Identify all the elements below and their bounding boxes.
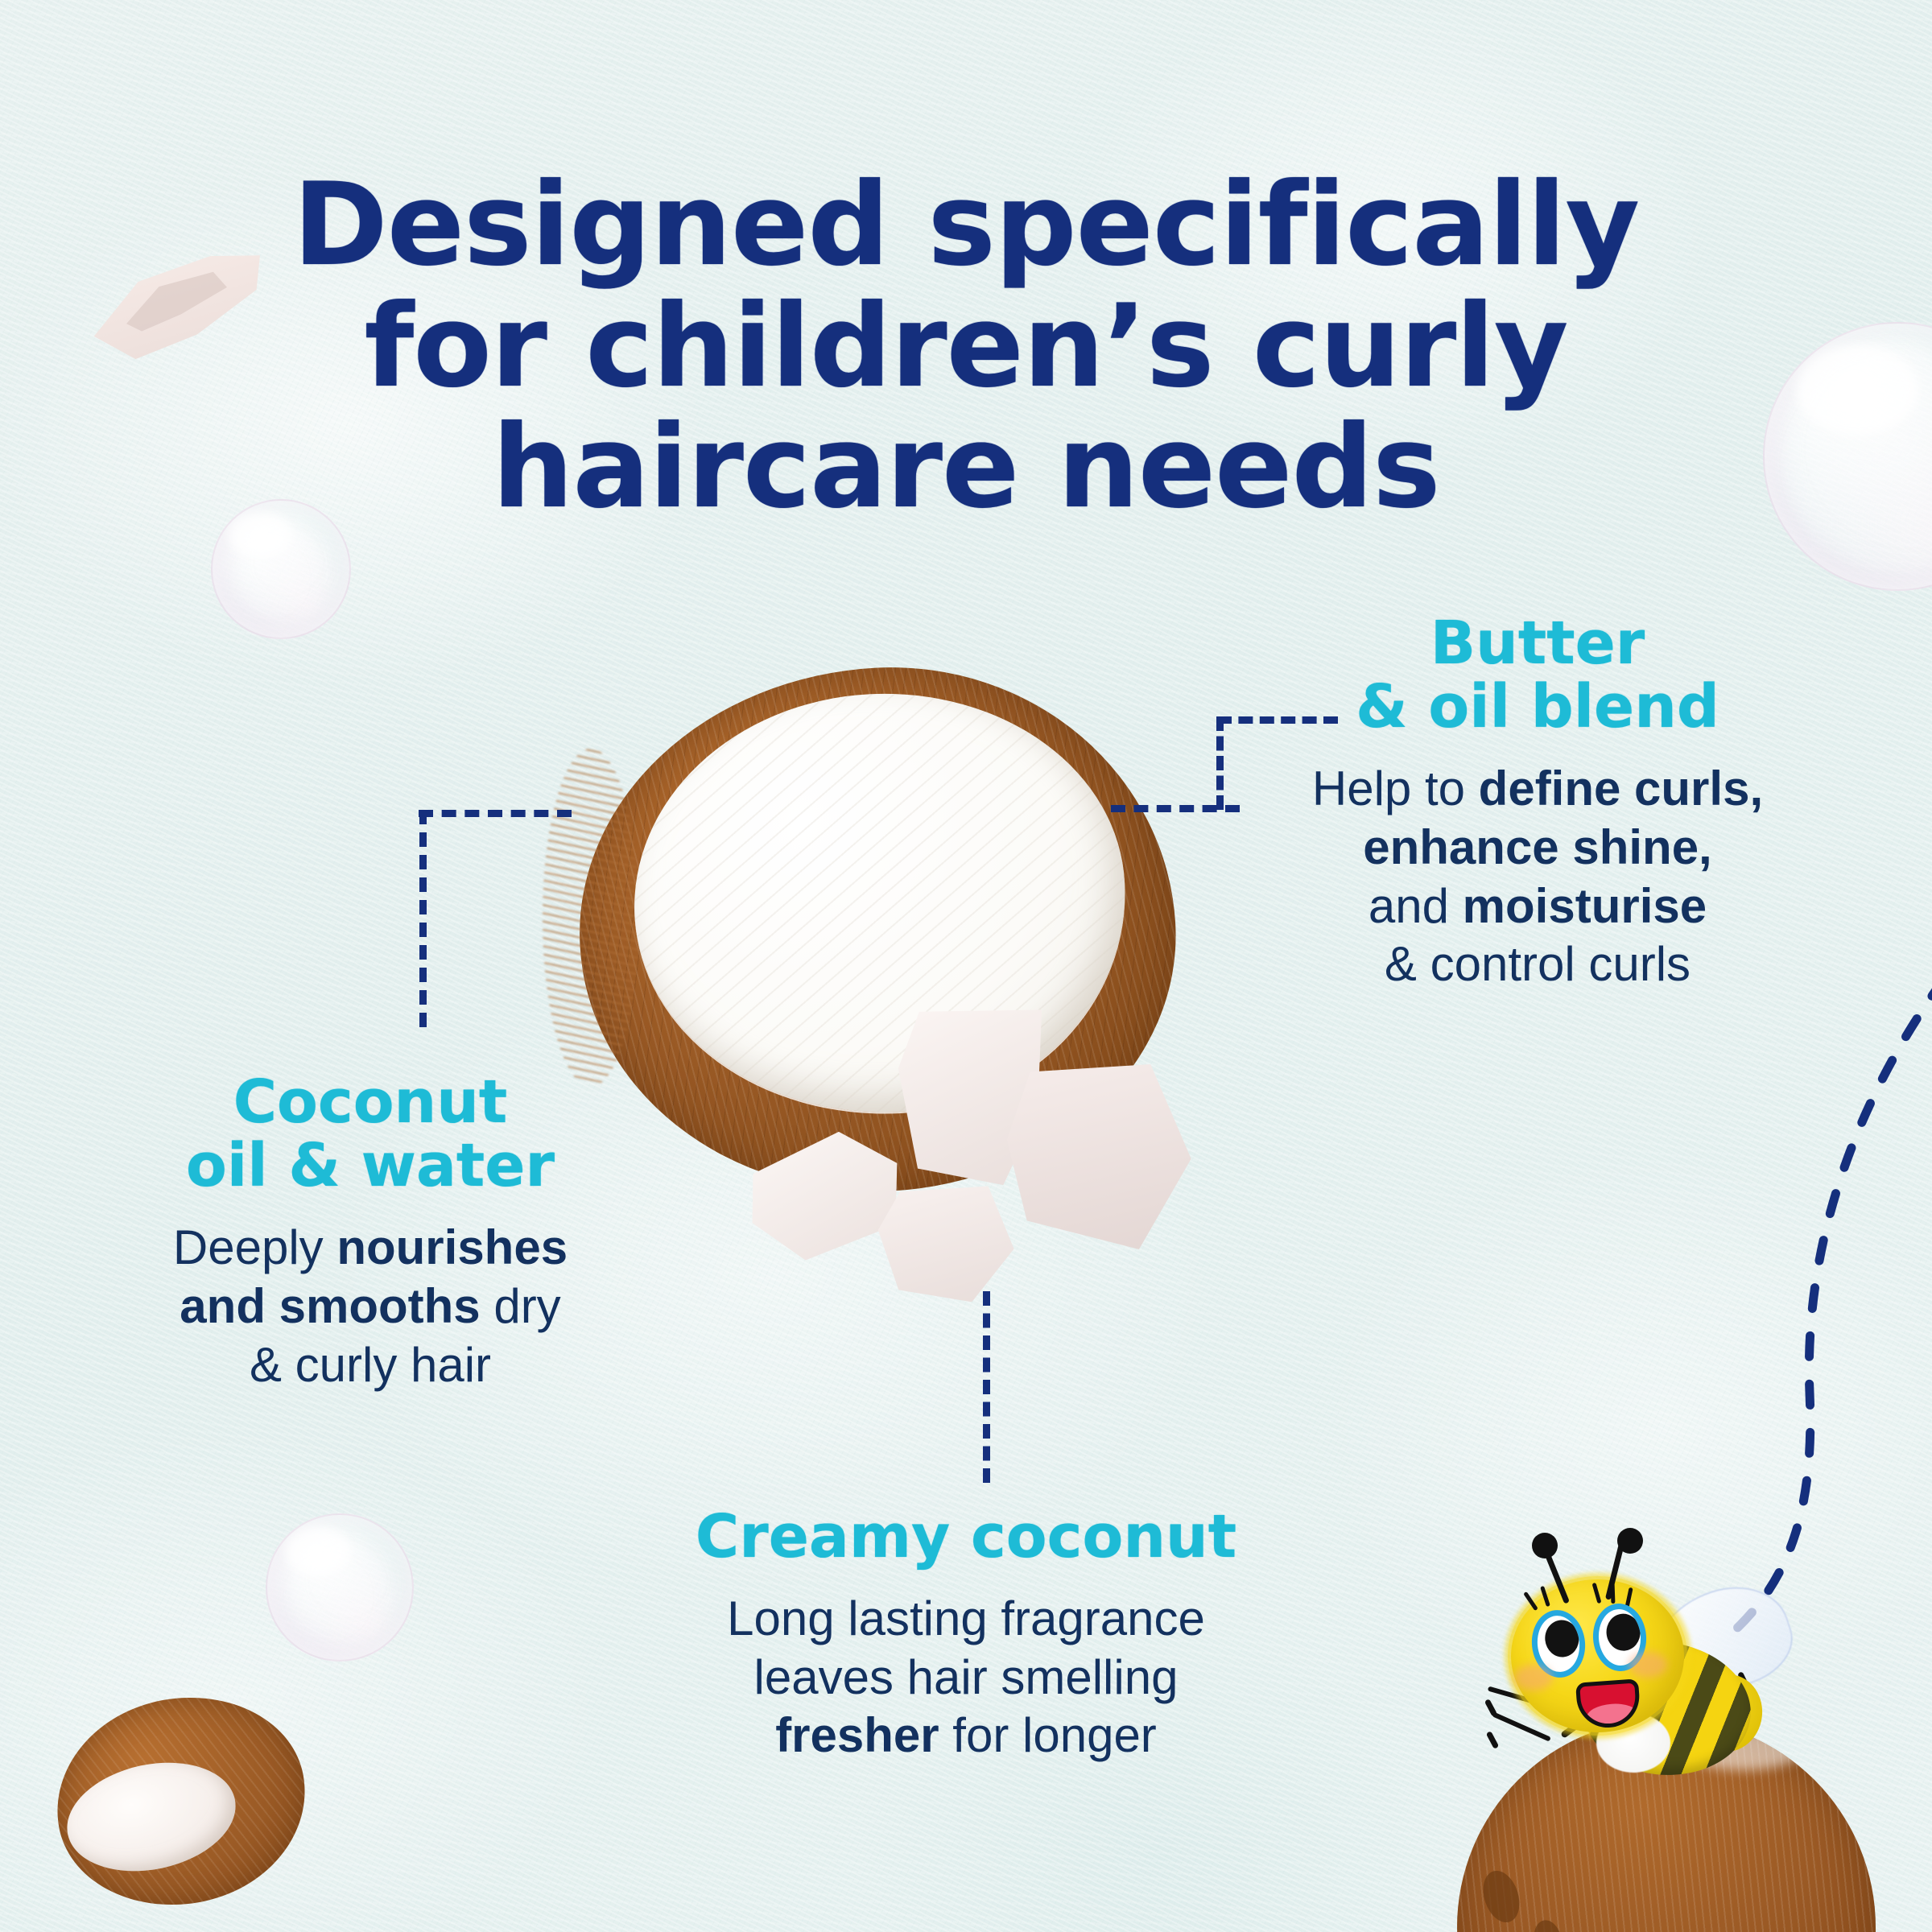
- callout-title-creamy-coconut: Creamy coconut: [612, 1505, 1320, 1569]
- text-bold: moisturise: [1463, 879, 1707, 933]
- connector-creamy-coconut: [983, 1291, 990, 1483]
- callout-body-line-3: fresher for longer: [612, 1707, 1320, 1765]
- poster-canvas: Designed specifically for children’s cur…: [0, 0, 1932, 1932]
- callout-body-line-4: & control curls: [1256, 935, 1819, 994]
- text-plain: and: [1368, 879, 1463, 933]
- coconut-half-illustration: [555, 652, 1280, 1288]
- bee-pupil-icon: [1543, 1618, 1581, 1658]
- bee-cheek-blush-icon: [1629, 1652, 1667, 1678]
- soap-bubble-icon: [266, 1513, 414, 1662]
- callout-body-coconut-oil-water: Deeply nourishes and smooths dry & curly…: [97, 1219, 644, 1394]
- bee-antenna-tip-icon: [1532, 1533, 1558, 1558]
- callout-title-line-2: & oil blend: [1256, 675, 1819, 739]
- text-bold: and smooths: [180, 1279, 480, 1333]
- callout-title-line-1: Creamy coconut: [612, 1505, 1320, 1569]
- page-title-line-1: Designed specifically: [293, 159, 1639, 291]
- bee-foot-icon: [1484, 1699, 1498, 1717]
- callout-body-line-3: and moisturise: [1256, 877, 1819, 936]
- connector-coconut-oil-water-vertical: [419, 810, 427, 1027]
- callout-creamy-coconut: Creamy coconut Long lasting fragrance le…: [612, 1505, 1320, 1765]
- callout-title-line-1: Butter: [1256, 612, 1819, 675]
- callout-body-line-2: and smooths dry: [97, 1278, 644, 1336]
- text-bold: define curls,: [1479, 762, 1763, 815]
- bee-mascot-illustration: [1493, 1513, 1831, 1860]
- callout-body-line-1: Help to define curls,: [1256, 760, 1819, 819]
- callout-butter-oil-blend: Butter & oil blend Help to define curls,…: [1256, 612, 1819, 994]
- callout-title-line-1: Coconut: [97, 1071, 644, 1134]
- connector-coconut-oil-water: [419, 810, 572, 817]
- callout-title-butter-oil-blend: Butter & oil blend: [1256, 612, 1819, 739]
- text-bold: nourishes: [336, 1220, 568, 1274]
- bee-pupil-icon: [1605, 1612, 1641, 1652]
- page-title-line-3: haircare needs: [161, 407, 1771, 529]
- soap-bubble-icon: [1763, 322, 1932, 591]
- text-bold: fresher: [775, 1708, 939, 1762]
- callout-body-line-1: Long lasting fragrance: [612, 1590, 1320, 1649]
- text-plain: Help to: [1312, 762, 1479, 815]
- callout-body-butter-oil-blend: Help to define curls, enhance shine, and…: [1256, 760, 1819, 993]
- page-title-line-2: for children’s curly: [161, 287, 1771, 408]
- callout-title-line-2: oil & water: [97, 1134, 644, 1198]
- coconut-husk-hairs-icon: [543, 749, 639, 1087]
- bee-cheek-blush-icon: [1514, 1665, 1553, 1690]
- text-plain: for longer: [939, 1708, 1157, 1762]
- bubble-rim-icon: [1765, 324, 1932, 589]
- callout-body-line-2: leaves hair smelling: [612, 1649, 1320, 1707]
- callout-title-coconut-oil-water: Coconut oil & water: [97, 1071, 644, 1198]
- bee-eyelash-icon: [1611, 1583, 1616, 1604]
- text-plain: dry: [481, 1279, 561, 1333]
- coconut-half-small-illustration: [56, 1699, 306, 1904]
- text-bold: enhance shine,: [1363, 820, 1711, 874]
- page-title: Designed specifically for children’s cur…: [161, 165, 1771, 529]
- connector-butter-oil-blend-vertical: [1216, 716, 1224, 810]
- bee-antenna-tip-icon: [1617, 1528, 1643, 1554]
- callout-body-creamy-coconut: Long lasting fragrance leaves hair smell…: [612, 1590, 1320, 1765]
- callout-coconut-oil-water: Coconut oil & water Deeply nourishes and…: [97, 1071, 644, 1394]
- callout-body-line-1: Deeply nourishes: [97, 1219, 644, 1278]
- bubble-rim-icon: [267, 1515, 412, 1660]
- callout-body-line-3: & curly hair: [97, 1336, 644, 1395]
- text-plain: Deeply: [173, 1220, 336, 1274]
- callout-body-line-2: enhance shine,: [1256, 819, 1819, 877]
